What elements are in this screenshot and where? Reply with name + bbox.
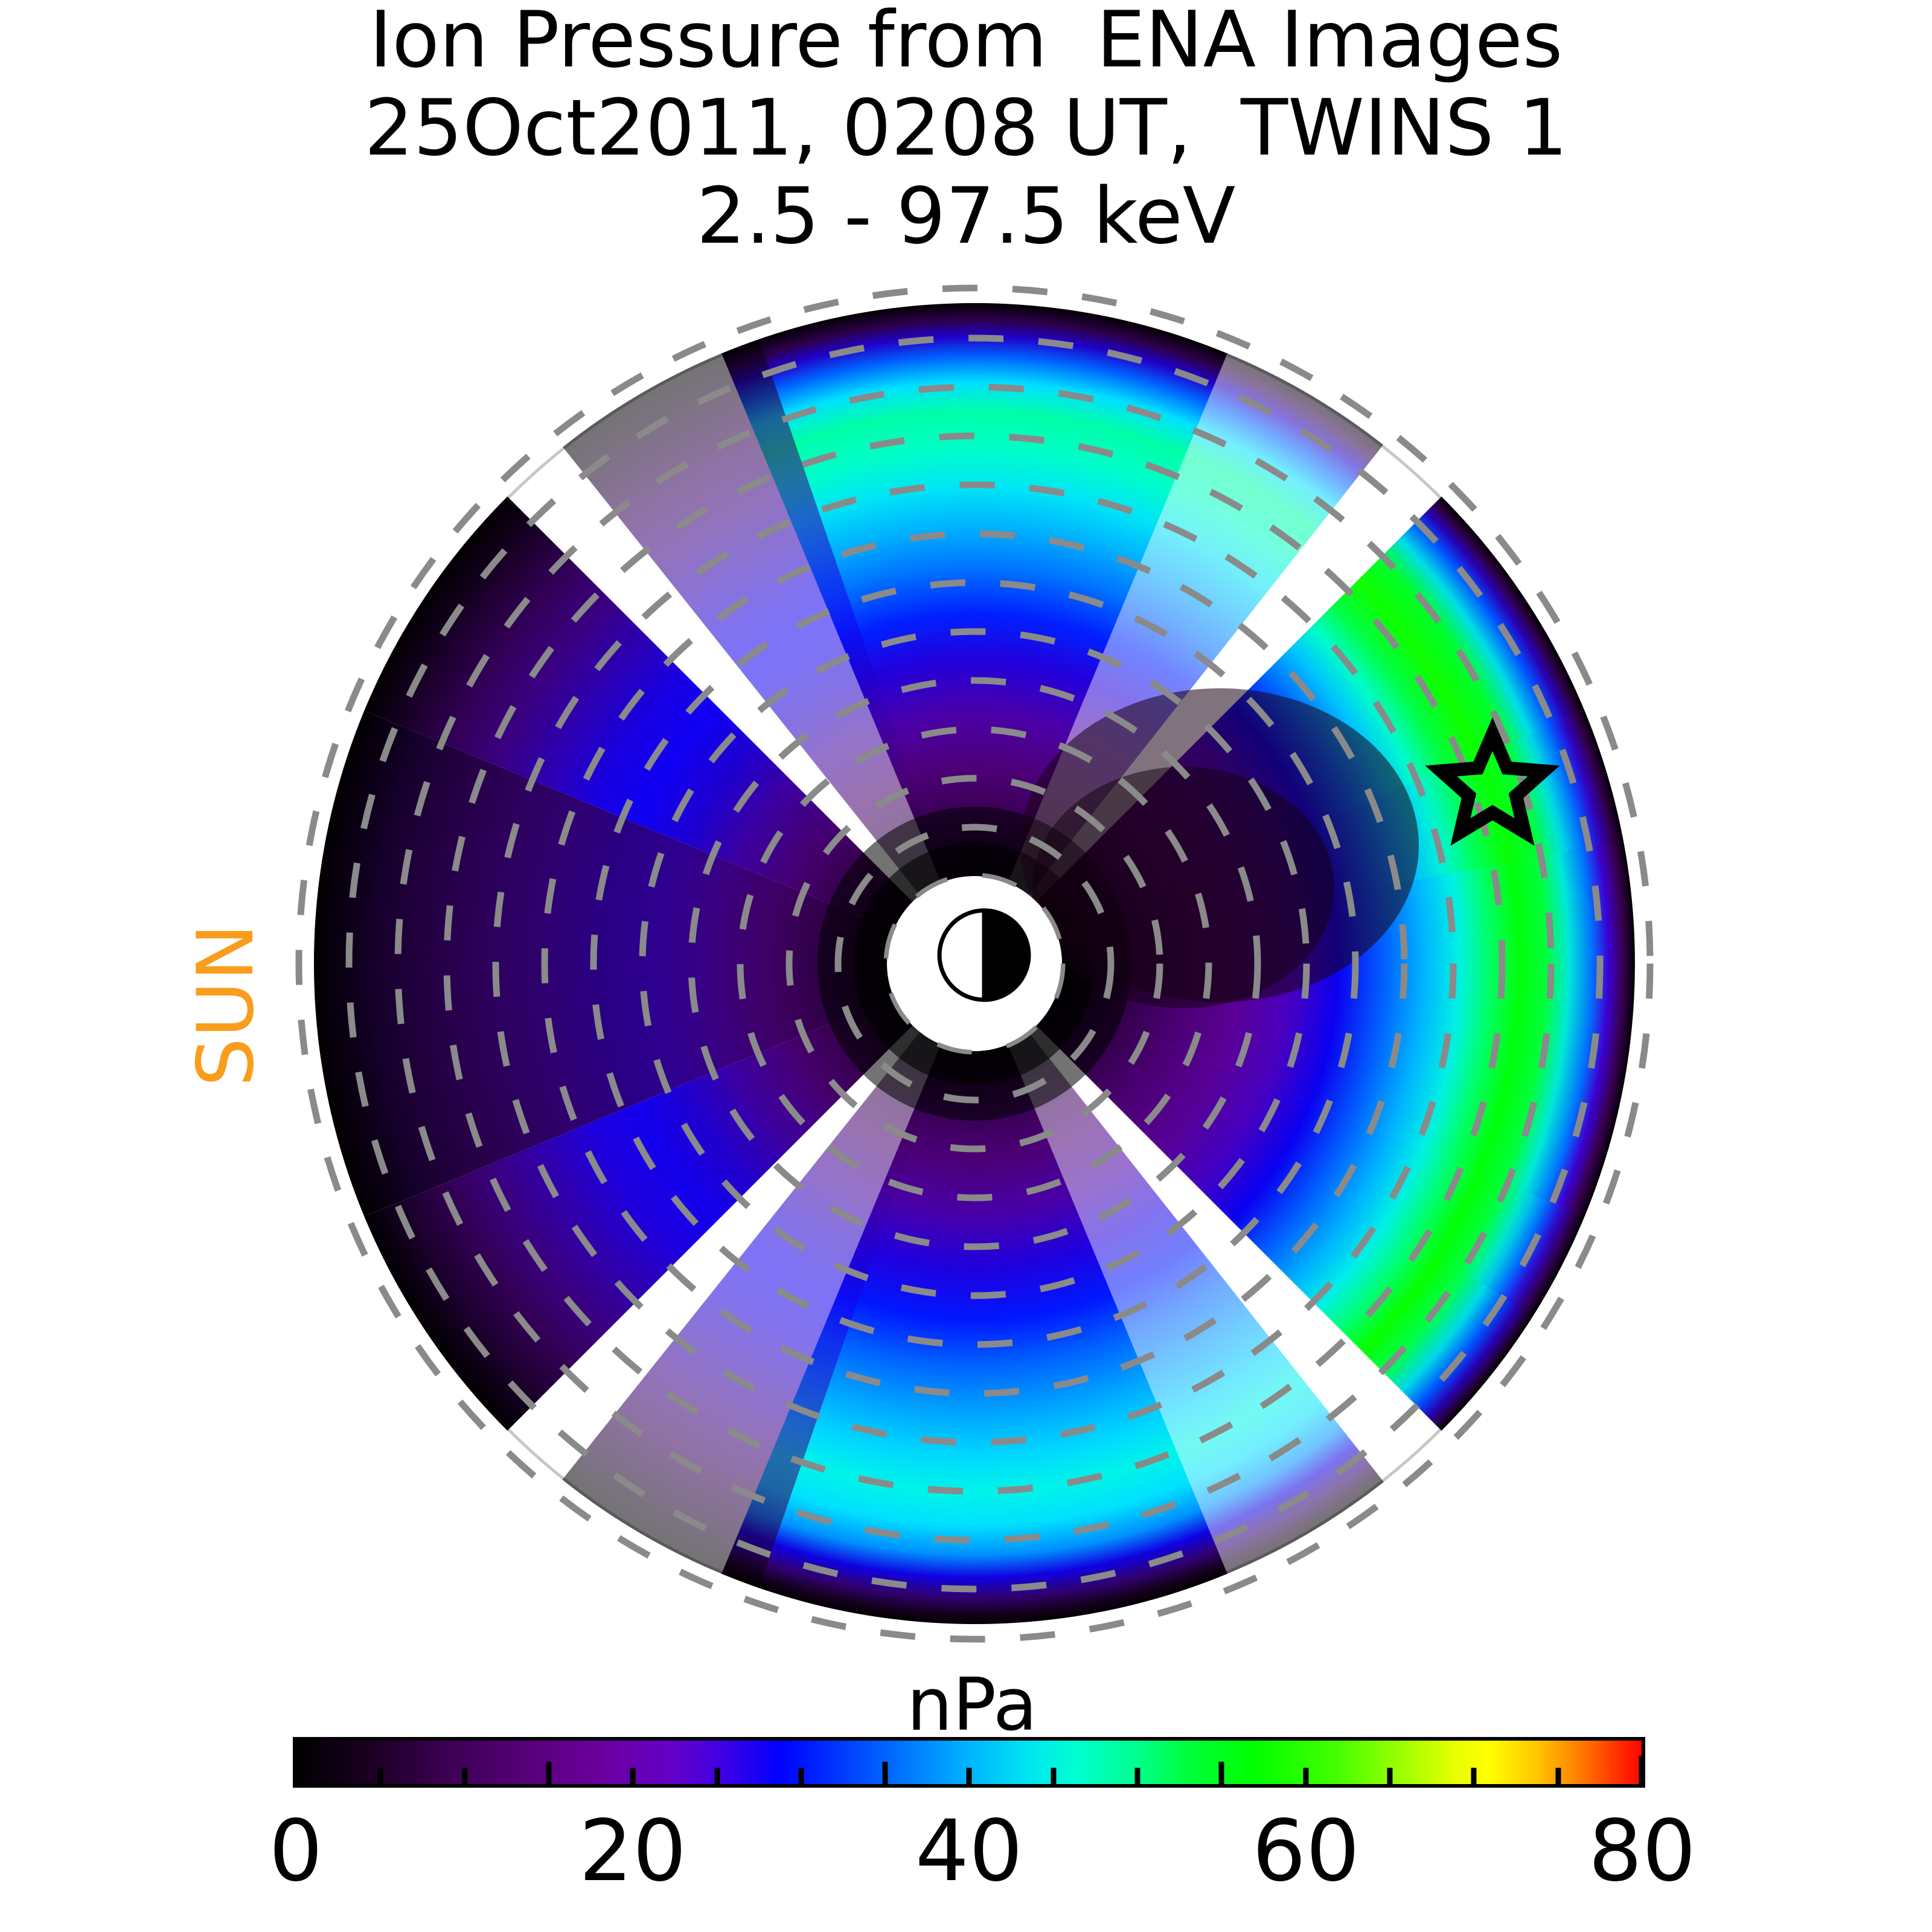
colorbar-tick-80: 80 bbox=[1588, 1802, 1696, 1901]
colorbar-tick-20: 20 bbox=[579, 1802, 686, 1901]
figure-root: Ion Pressure from ENA Images 25Oct2011, … bbox=[0, 0, 1932, 1932]
colorbar-tick-0: 0 bbox=[269, 1802, 322, 1901]
earth-day-night-icon bbox=[939, 910, 1029, 1000]
colorbar-tick-40: 40 bbox=[915, 1802, 1023, 1901]
polar-pressure-map bbox=[0, 0, 1932, 1932]
sun-direction-label: SUN bbox=[181, 923, 271, 1087]
colorbar-tick-60: 60 bbox=[1252, 1802, 1360, 1901]
colorbar-unit-label: nPa bbox=[815, 1663, 1129, 1747]
